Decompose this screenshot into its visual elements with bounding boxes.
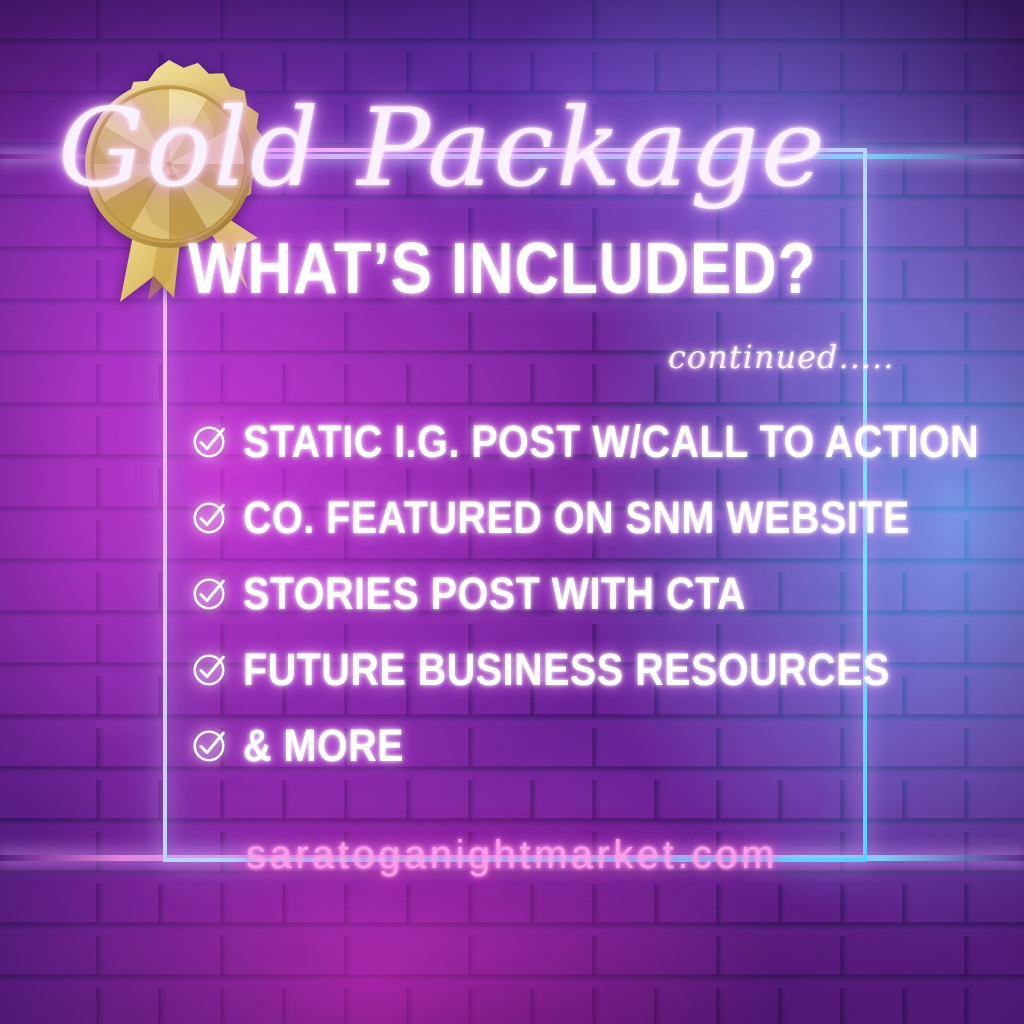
website-url[interactable]: saratoganightmarket.com xyxy=(0,833,1024,878)
list-item: FUTURE BUSINESS RESOURCES xyxy=(190,632,880,708)
list-item: & MORE xyxy=(190,708,880,784)
included-features-list: STATIC I.G. POST W/CALL TO ACTION CO. FE… xyxy=(190,404,880,784)
circle-check-icon xyxy=(190,726,228,764)
list-item: STORIES POST WITH CTA xyxy=(190,556,880,632)
page-title: WHAT’S INCLUDED? xyxy=(188,228,816,310)
list-item-label: FUTURE BUSINESS RESOURCES xyxy=(243,644,890,696)
list-item-label: STORIES POST WITH CTA xyxy=(243,568,746,620)
continued-note: continued..... xyxy=(668,338,894,376)
package-script-title: Gold Package xyxy=(58,74,678,224)
circle-check-icon xyxy=(190,498,228,536)
circle-check-icon xyxy=(190,422,228,460)
neon-promo-poster: Gold Package WHAT’S INCLUDED? continued.… xyxy=(0,0,1024,1024)
circle-check-icon xyxy=(190,650,228,688)
list-item: STATIC I.G. POST W/CALL TO ACTION xyxy=(190,404,880,480)
circle-check-icon xyxy=(190,574,228,612)
list-item-label: & MORE xyxy=(243,720,404,772)
list-item-label: CO. FEATURED ON SNM WEBSITE xyxy=(243,492,910,544)
list-item-label: STATIC I.G. POST W/CALL TO ACTION xyxy=(243,416,979,468)
list-item: CO. FEATURED ON SNM WEBSITE xyxy=(190,480,880,556)
